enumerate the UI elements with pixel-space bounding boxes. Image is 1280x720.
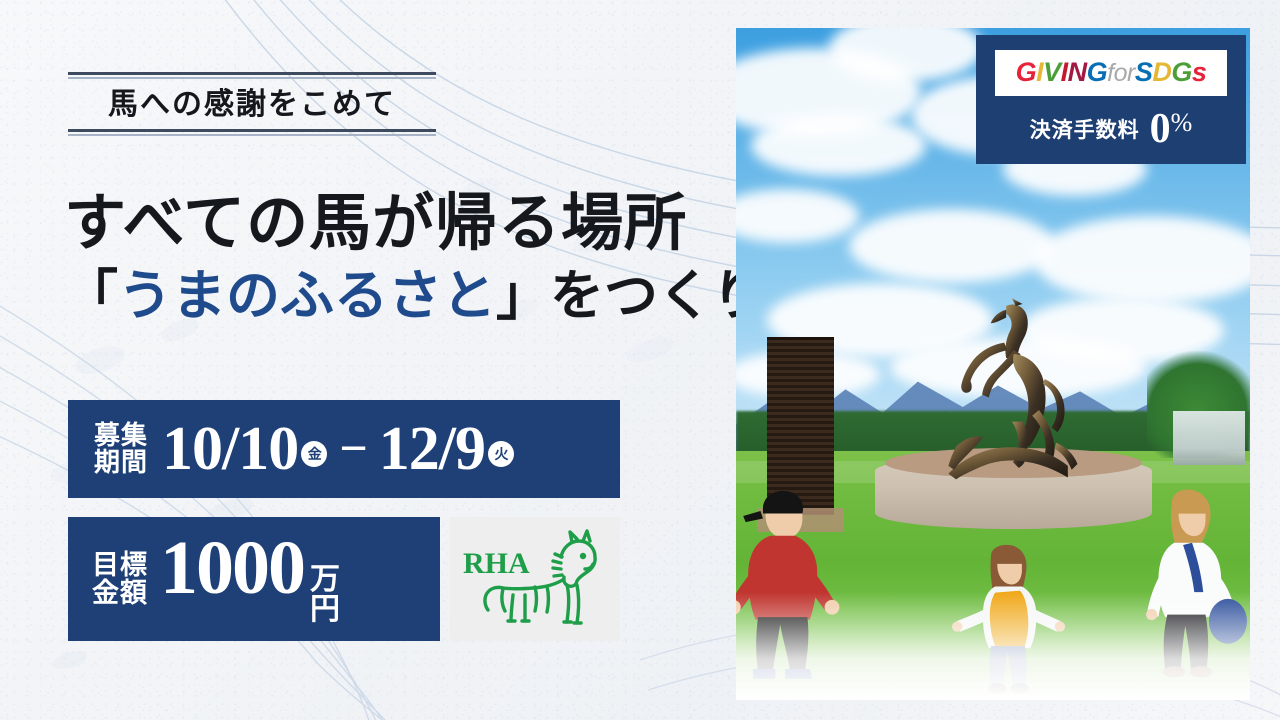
rearing-horse-statue-icon xyxy=(931,250,1085,485)
campaign-period-band: 募集 期間 10/10 金 − 12/9 火 xyxy=(68,400,620,498)
headline-line-1: すべての馬が帰る場所 xyxy=(64,193,724,256)
headline-accent-phrase: うまのふるさと xyxy=(118,266,496,326)
eyebrow-block: 馬への感謝をこめて xyxy=(68,72,436,136)
sdgs-letter: N xyxy=(1068,57,1087,87)
sdgs-letter: S xyxy=(1135,57,1153,87)
sdgs-for-word: for xyxy=(1107,59,1135,87)
sdgs-letter: G xyxy=(1016,57,1037,87)
sdgs-letter: G xyxy=(1171,57,1192,87)
goal-amount-value: 1000 万 円 xyxy=(160,530,338,629)
rule-top-thick xyxy=(68,72,436,75)
sdgs-letter: I xyxy=(1061,57,1068,87)
eyebrow-text: 馬への感謝をこめて xyxy=(68,79,436,129)
headline-close-bracket: 」 xyxy=(496,266,550,326)
sdgs-letter: D xyxy=(1152,57,1171,87)
rha-logo-icon: RHA xyxy=(459,527,611,631)
goal-amount-unit: 万 円 xyxy=(310,565,338,625)
rha-logo-panel: RHA xyxy=(450,517,620,641)
left-content-column: 馬への感謝をこめて すべての馬が帰る場所 「うまのふるさと」をつくりたい 募集 … xyxy=(0,0,735,720)
rule-top xyxy=(68,72,436,79)
payment-fee-row: 決済手数料 0 % xyxy=(1030,108,1193,150)
campaign-period-value: 10/10 金 − 12/9 火 xyxy=(162,418,514,480)
poster-canvas: 馬への感謝をこめて すべての馬が帰る場所 「うまのふるさと」をつくりたい 募集 … xyxy=(0,0,1280,720)
goal-unit-yen: 円 xyxy=(310,595,338,625)
sdgs-wordmark: GIVINGforSDGs xyxy=(1016,59,1207,86)
sdgs-letter: G xyxy=(1087,57,1108,87)
rule-bottom xyxy=(68,129,436,136)
sdgs-logo-box: GIVINGforSDGs xyxy=(995,50,1227,96)
sdgs-letter: s xyxy=(1192,57,1207,87)
rule-bottom-thin xyxy=(68,134,436,136)
rule-bottom-thick xyxy=(68,129,436,132)
end-date: 12/9 xyxy=(379,418,485,480)
payment-fee-label: 決済手数料 xyxy=(1030,114,1140,144)
payment-fee-value: 0 xyxy=(1150,108,1171,150)
cloud xyxy=(751,115,926,175)
goal-unit-man: 万 xyxy=(310,565,338,595)
sdgs-letter: V xyxy=(1043,57,1061,87)
start-weekday-badge: 金 xyxy=(301,441,327,467)
goal-amount-label: 目標 金額 xyxy=(92,551,148,608)
campaign-period-label: 募集 期間 xyxy=(94,422,148,477)
payment-fee-unit: % xyxy=(1171,110,1193,136)
headline-line-2: 「うまのふるさと」をつくりたい xyxy=(64,269,724,324)
rha-logo-text: RHA xyxy=(463,547,530,580)
headline-open-bracket: 「 xyxy=(64,266,118,326)
goal-amount-number: 1000 xyxy=(160,530,304,606)
headline-block: すべての馬が帰る場所 「うまのふるさと」をつくりたい xyxy=(64,193,724,324)
photo-bottom-fade xyxy=(736,592,1250,700)
sdgs-badge: GIVINGforSDGs 決済手数料 0 % xyxy=(976,35,1246,164)
end-weekday-badge: 火 xyxy=(488,441,514,467)
start-date: 10/10 xyxy=(162,418,298,480)
goal-amount-band: 目標 金額 1000 万 円 xyxy=(68,517,440,641)
date-separator: − xyxy=(339,423,367,473)
